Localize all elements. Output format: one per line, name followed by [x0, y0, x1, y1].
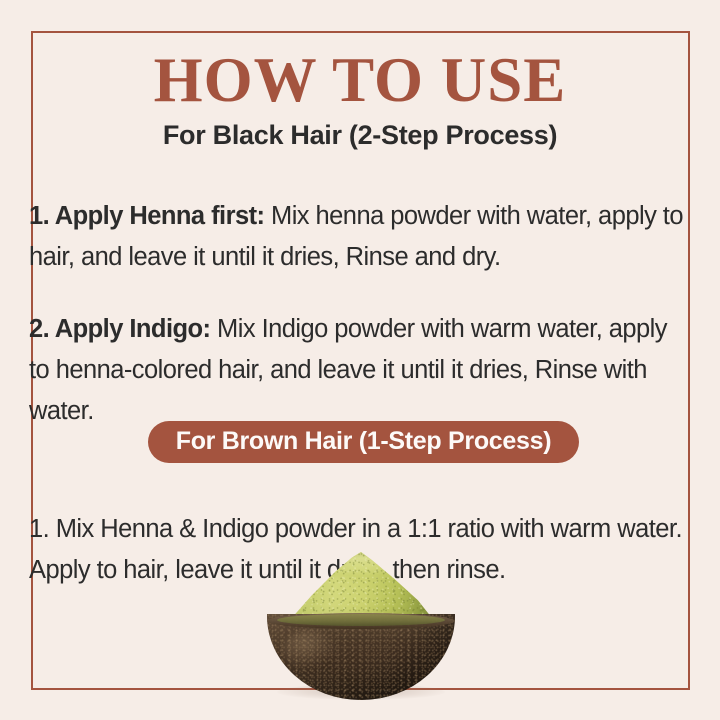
bowl-highlight — [283, 630, 337, 670]
content-area: HOW TO USE For Black Hair (2-Step Proces… — [0, 0, 720, 720]
instruction-step-2: 2. Apply Indigo: Mix Indigo powder with … — [29, 309, 693, 432]
page-title: HOW TO USE — [0, 47, 720, 113]
instruction-step-1-lead: 1. Apply Henna first: — [29, 202, 264, 230]
badge-brown-hair-label: For Brown Hair (1-Step Process) — [176, 429, 552, 456]
bowl-rim-powder-edge — [277, 614, 445, 626]
instruction-step-2-lead: 2. Apply Indigo: — [29, 315, 211, 343]
badge-brown-hair: For Brown Hair (1-Step Process) — [148, 421, 579, 463]
section-subtitle-black-hair: For Black Hair (2-Step Process) — [0, 119, 720, 151]
product-photo-henna-bowl — [255, 552, 467, 700]
how-to-use-infographic: HOW TO USE For Black Hair (2-Step Proces… — [0, 0, 720, 720]
instruction-step-1: 1. Apply Henna first: Mix henna powder w… — [29, 196, 693, 278]
